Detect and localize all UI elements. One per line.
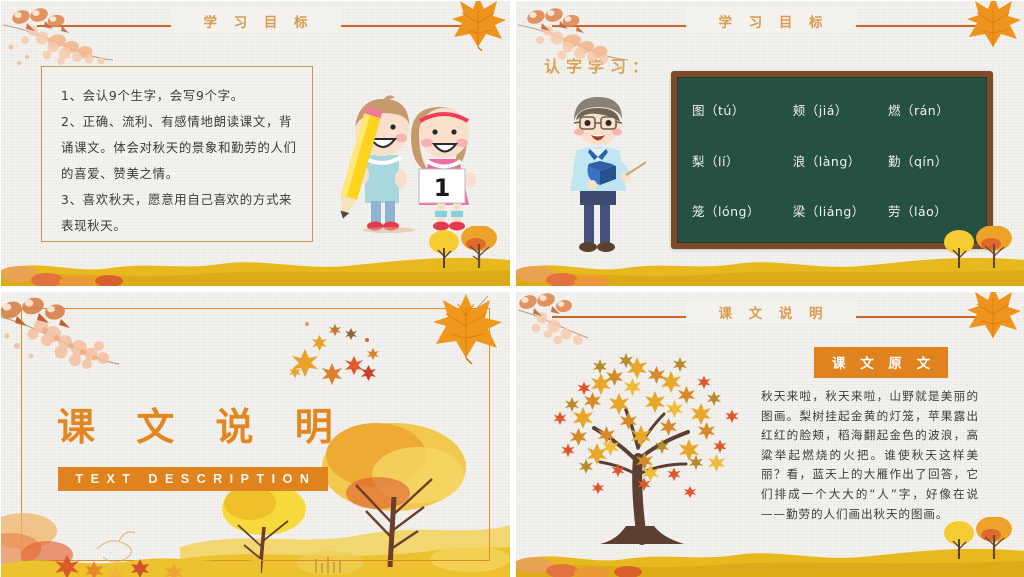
blackboard-row: 笼（lóng） 梁（liáng） 劳（láo） xyxy=(692,185,972,236)
objectives-text: 1、会认9个生字，会写9个字。 2、正确、流利、有感情地朗读课文，背诵课文。体会… xyxy=(61,83,301,239)
original-text-body: 秋天来啦，秋天来啦，山野就是美丽的图画。梨树挂起金黄的灯笼，苹果露出红红的脸颊，… xyxy=(761,387,979,524)
birds-on-branch-icon xyxy=(1,1,147,70)
small-autumn-trees-icon xyxy=(424,226,502,272)
two-children-illustration: 1 xyxy=(319,83,501,233)
page-title: 课 文 说 明 xyxy=(686,300,856,324)
blackboard-cell: 颊（jiá） xyxy=(793,100,888,119)
maple-leaf-icon xyxy=(961,292,1023,342)
birds-on-blossom-branch-icon xyxy=(1,292,145,388)
birds-on-branch-icon xyxy=(516,1,662,70)
blackboard-row: 图（tú） 颊（jiá） 燃（rán） xyxy=(692,84,972,135)
blackboard-cell: 浪（làng） xyxy=(793,151,888,170)
slide-original-text: 课 文 说 明 xyxy=(516,292,1024,577)
page-title: 学 习 目 标 xyxy=(686,9,856,33)
cover-subtitle: TEXT DESCRIPTION xyxy=(58,467,328,491)
teacher-illustration xyxy=(546,87,646,262)
blackboard-surface: 图（tú） 颊（jiá） 燃（rán） 梨（lí） 浪（làng） 勤（qín）… xyxy=(677,77,987,243)
blackboard-cell: 梁（liáng） xyxy=(793,201,888,220)
autumn-maple-tree-illustration xyxy=(538,340,756,552)
blackboard-cell: 图（tú） xyxy=(692,100,793,119)
blackboard-cell: 笼（lóng） xyxy=(692,201,793,220)
blackboard-cell: 梨（lí） xyxy=(692,151,793,170)
slide-text-description-cover: 课 文 说 明 TEXT DESCRIPTION xyxy=(1,292,510,577)
large-maple-leaf-icon xyxy=(428,292,506,364)
slide-learning-objectives: 学 习 目 标 1、会认9个生字，会写9个字。 2、正确、流利、有感情地朗读课文… xyxy=(1,1,510,286)
maple-leaf-icon xyxy=(961,1,1023,51)
original-text-badge: 课 文 原 文 xyxy=(814,347,948,378)
card-number: 1 xyxy=(434,174,451,202)
falling-leaves-decoration xyxy=(271,312,391,402)
slide-character-learning: 学 习 目 标 认字学习： xyxy=(516,1,1024,286)
blackboard-cell: 燃（rán） xyxy=(888,100,972,119)
blackboard-cell: 勤（qín） xyxy=(888,151,972,170)
maple-leaf-icon xyxy=(446,1,508,51)
small-autumn-trees-icon xyxy=(939,226,1017,272)
blackboard: 图（tú） 颊（jiá） 燃（rán） 梨（lí） 浪（làng） 勤（qín）… xyxy=(671,71,993,249)
fallen-leaves-decoration xyxy=(1,487,261,577)
blackboard-row: 梨（lí） 浪（làng） 勤（qín） xyxy=(692,135,972,186)
page-title: 学 习 目 标 xyxy=(171,9,341,33)
blackboard-cell: 劳（láo） xyxy=(888,201,972,220)
cover-title: 课 文 说 明 xyxy=(57,396,347,451)
slide-deck-grid: 学 习 目 标 1、会认9个生字，会写9个字。 2、正确、流利、有感情地朗读课文… xyxy=(0,0,1024,577)
